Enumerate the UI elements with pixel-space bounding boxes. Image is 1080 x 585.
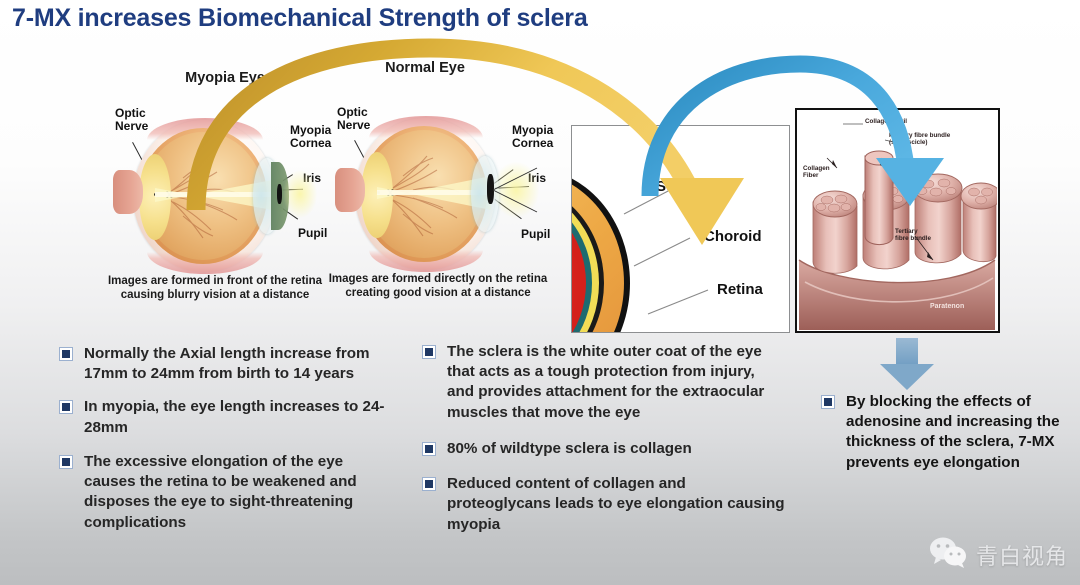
bullet-marker-icon — [425, 445, 433, 453]
bullet-marker-icon — [62, 350, 70, 358]
bullet-marker-icon — [824, 398, 832, 406]
myopia-eye-heading: Myopia Eye — [155, 70, 295, 86]
list-item: The excessive elongation of the eye caus… — [62, 452, 392, 533]
list-item: In myopia, the eye length increases to 2… — [62, 397, 392, 437]
normal-eye-heading: Normal Eye — [355, 60, 495, 76]
bullet-column-2: The sclera is the white outer coat of th… — [425, 342, 785, 548]
list-item: Reduced content of collagen and proteogl… — [425, 474, 785, 535]
choroid-label: Choroid — [704, 228, 762, 245]
bullet-text: The sclera is the white outer coat of th… — [447, 342, 785, 423]
bullet-text: Normally the Axial length increase from … — [84, 344, 392, 384]
bullet-marker-icon — [425, 480, 433, 488]
page-title: 7-MX increases Biomechanical Strength of… — [12, 4, 712, 33]
wechat-icon — [929, 536, 967, 573]
myopia-eye-diagram: Myopia Eye Optic Nerve Myopia Cornea Iri… — [95, 62, 345, 320]
myopia-eye-caption: Images are formed in front of the retina… — [95, 274, 335, 303]
collagen-fibril-label: Collagen fibril — [865, 118, 907, 125]
normal-eye-caption: Images are formed directly on the retina… — [323, 272, 553, 301]
myopia-pupil — [277, 184, 282, 204]
myopia-x-mark — [95, 62, 98, 76]
normal-eye-diagram: Normal Eye Optic Nerve Myopia Cornea Iri… — [315, 58, 565, 320]
tertiary-fibre-bundle-label: Tertiary fibre bundle — [895, 228, 931, 243]
watermark: 青白视角 — [929, 536, 1068, 573]
primary-fibre-bundle-label: Primary fibre bundle (subfascicle) — [889, 132, 950, 147]
bullet-column-1: Normally the Axial length increase from … — [62, 344, 392, 546]
normal-external-rays — [491, 164, 541, 216]
sclera-layers-panel: Sclera Choroid Retina — [571, 125, 790, 333]
normal-cornea-label: Myopia Cornea — [512, 124, 572, 151]
bullet-marker-icon — [62, 458, 70, 466]
normal-pupil-label: Pupil — [521, 228, 550, 241]
bullet-text: By blocking the effects of adenosine and… — [846, 392, 1069, 473]
retina-label: Retina — [717, 281, 763, 298]
myopia-optic-nerve — [113, 170, 143, 214]
list-item: 80% of wildtype sclera is collagen — [425, 439, 785, 459]
bullet-text: The excessive elongation of the eye caus… — [84, 452, 392, 533]
sclera-label: Sclera — [656, 178, 701, 195]
bullet-text: In myopia, the eye length increases to 2… — [84, 397, 392, 437]
slide-canvas: 7-MX increases Biomechanical Strength of… — [0, 0, 1080, 585]
myopia-external-glow — [283, 170, 317, 218]
collagen-structure-panel: Collagen fibril Primary fibre bundle (su… — [795, 108, 1000, 333]
watermark-text: 青白视角 — [976, 539, 1068, 571]
list-item: By blocking the effects of adenosine and… — [824, 392, 1069, 473]
list-item: Normally the Axial length increase from … — [62, 344, 392, 384]
down-arrow-blue — [880, 338, 934, 390]
bullet-text: 80% of wildtype sclera is collagen — [447, 439, 692, 459]
bullet-text: Reduced content of collagen and proteogl… — [447, 474, 785, 535]
normal-optic-nerve — [335, 168, 365, 212]
list-item: The sclera is the white outer coat of th… — [425, 342, 785, 423]
collagen-fiber-label: Collagen Fiber — [803, 165, 830, 180]
paratenon-label: Paratenon — [930, 303, 964, 311]
bullet-marker-icon — [62, 403, 70, 411]
bullet-column-3: By blocking the effects of adenosine and… — [824, 392, 1069, 486]
bullet-marker-icon — [425, 348, 433, 356]
